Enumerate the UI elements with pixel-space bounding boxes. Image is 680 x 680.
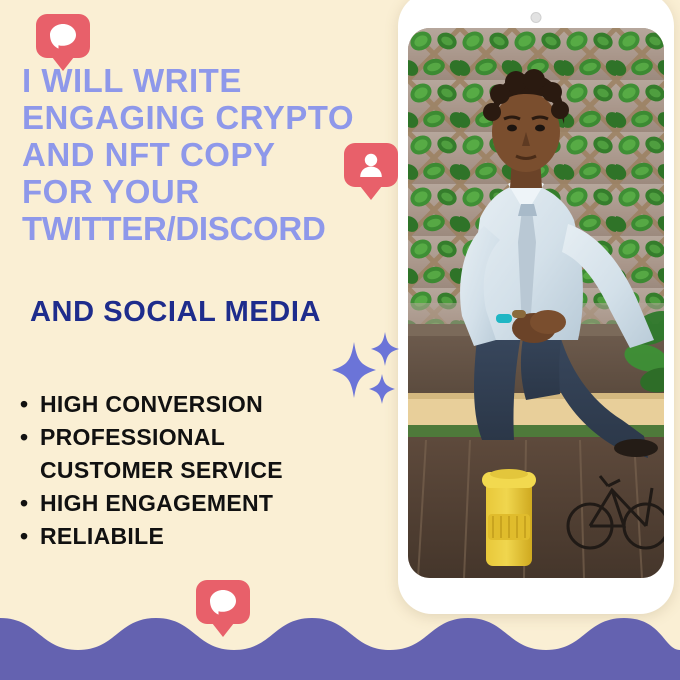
badge-body bbox=[36, 14, 90, 58]
wave-shape bbox=[0, 618, 680, 680]
phone-mockup bbox=[398, 0, 674, 614]
list-item-label: PROFESSIONAL bbox=[40, 424, 225, 450]
subheadline: AND SOCIAL MEDIA bbox=[30, 296, 321, 329]
sparkle-icon bbox=[332, 342, 376, 398]
list-item-label: HIGH CONVERSION bbox=[40, 391, 263, 417]
headline-line-2: ENGAGING CRYPTO bbox=[22, 99, 392, 136]
phone-screen-photo bbox=[408, 28, 664, 578]
badge-tail bbox=[212, 623, 234, 637]
list-item: • HIGH ENGAGEMENT bbox=[16, 487, 283, 520]
headline: I WILL WRITE ENGAGING CRYPTO AND NFT COP… bbox=[22, 62, 392, 247]
person-icon bbox=[358, 152, 384, 178]
comment-icon bbox=[49, 23, 77, 49]
bullet-marker: • bbox=[20, 388, 28, 421]
headline-line-3: AND NFT COPY bbox=[22, 136, 392, 173]
list-item: • HIGH CONVERSION bbox=[16, 388, 283, 421]
list-item: • RELIABILE bbox=[16, 520, 283, 553]
badge-body bbox=[344, 143, 398, 187]
list-item-label: RELIABILE bbox=[40, 523, 164, 549]
comment-icon bbox=[209, 589, 237, 615]
sparkle-icon bbox=[369, 374, 395, 404]
comment-badge-top bbox=[36, 14, 90, 71]
badge-body bbox=[196, 580, 250, 624]
bullet-marker: • bbox=[20, 520, 28, 553]
list-item-label: HIGH ENGAGEMENT bbox=[40, 490, 273, 516]
sparkle-group bbox=[330, 328, 410, 406]
wave-decoration bbox=[0, 600, 680, 680]
bullet-marker: • bbox=[20, 421, 28, 454]
bullet-marker: • bbox=[20, 487, 28, 520]
badge-tail bbox=[360, 186, 382, 200]
list-item-label-continued: CUSTOMER SERVICE bbox=[40, 454, 283, 487]
phone-photo-description: Man in light blue dress shirt and tie se… bbox=[0, 0, 1, 1]
gig-thumbnail-poster: I WILL WRITE ENGAGING CRYPTO AND NFT COP… bbox=[0, 0, 680, 680]
feature-list: • HIGH CONVERSION • PROFESSIONAL CUSTOME… bbox=[16, 388, 283, 553]
badge-tail bbox=[52, 57, 74, 71]
headline-line-4: FOR YOUR bbox=[22, 173, 392, 210]
headline-line-5: TWITTER/DISCORD bbox=[22, 210, 392, 247]
comment-badge-bottom bbox=[196, 580, 250, 637]
sparkle-icon bbox=[371, 332, 399, 366]
phone-camera-dot bbox=[531, 12, 542, 23]
list-item: • PROFESSIONAL CUSTOMER SERVICE bbox=[16, 421, 283, 487]
person-badge bbox=[344, 143, 398, 200]
